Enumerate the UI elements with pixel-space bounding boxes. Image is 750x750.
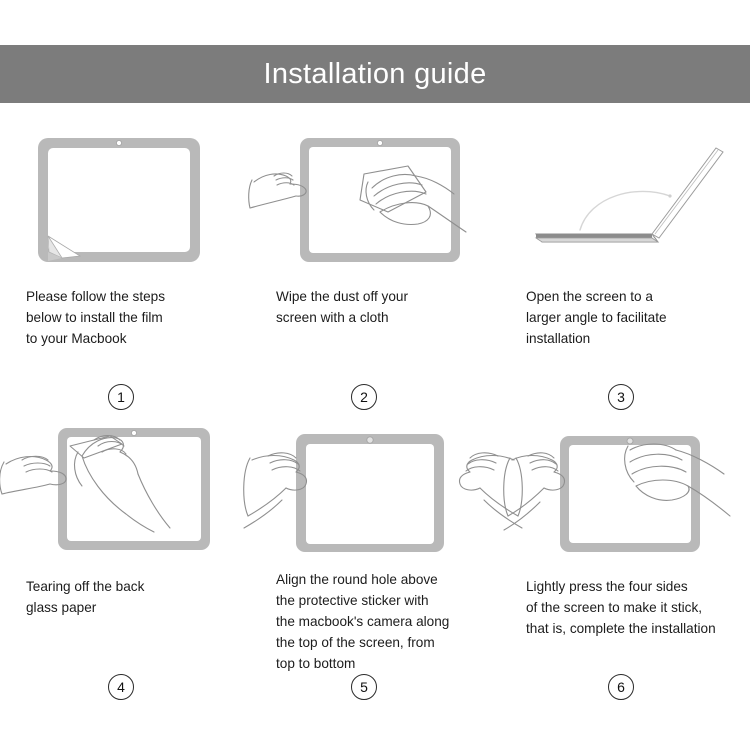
step-5-badge-wrap: 5 xyxy=(268,674,482,700)
step-card-5: Align the round hole above the protectiv… xyxy=(250,410,500,700)
step-card-2: Wipe the dust off your screen with a clo… xyxy=(250,120,500,410)
step-2-caption: Wipe the dust off your screen with a clo… xyxy=(268,286,482,328)
step-card-3: Open the screen to a larger angle to fac… xyxy=(500,120,750,410)
step-2-illustration xyxy=(268,130,482,270)
step-3-caption: Open the screen to a larger angle to fac… xyxy=(518,286,732,349)
step-number-badge: 1 xyxy=(108,384,134,410)
laptop-open-angle-icon xyxy=(518,130,748,270)
header-banner: Installation guide xyxy=(0,45,750,103)
step-number-badge: 3 xyxy=(608,384,634,410)
hand-pressing-screen-icon xyxy=(518,420,748,560)
step-6-badge-wrap: 6 xyxy=(518,674,732,700)
step-2-badge-wrap: 2 xyxy=(268,384,482,410)
step-card-1: Please follow the steps below to install… xyxy=(0,120,250,410)
step-card-6: Lightly press the four sides of the scre… xyxy=(500,410,750,700)
two-hands-aligning-film-icon xyxy=(268,420,498,560)
step-5-illustration xyxy=(268,420,482,553)
hand-tearing-back-paper-icon xyxy=(18,420,248,560)
steps-row-1: Please follow the steps below to install… xyxy=(0,120,750,410)
step-4-illustration xyxy=(18,420,232,560)
steps-row-2: Tearing off the back glass paper 4 xyxy=(0,410,750,700)
step-4-badge-wrap: 4 xyxy=(18,674,232,700)
step-6-illustration xyxy=(518,420,732,560)
step-5-caption: Align the round hole above the protectiv… xyxy=(268,569,482,674)
step-3-illustration xyxy=(518,130,732,270)
screen-with-peeling-film-icon xyxy=(18,130,232,270)
step-number-badge: 2 xyxy=(351,384,377,410)
step-1-caption: Please follow the steps below to install… xyxy=(18,286,232,349)
step-card-4: Tearing off the back glass paper 4 xyxy=(0,410,250,700)
step-4-caption: Tearing off the back glass paper xyxy=(18,576,232,618)
installation-steps-grid: Please follow the steps below to install… xyxy=(0,120,750,700)
step-number-badge: 5 xyxy=(351,674,377,700)
hand-wiping-screen-icon xyxy=(268,130,498,270)
step-3-badge-wrap: 3 xyxy=(518,384,732,410)
step-6-caption: Lightly press the four sides of the scre… xyxy=(518,576,732,639)
page-title: Installation guide xyxy=(263,60,486,89)
step-number-badge: 6 xyxy=(608,674,634,700)
step-1-illustration xyxy=(18,130,232,270)
step-1-badge-wrap: 1 xyxy=(18,384,232,410)
step-number-badge: 4 xyxy=(108,674,134,700)
